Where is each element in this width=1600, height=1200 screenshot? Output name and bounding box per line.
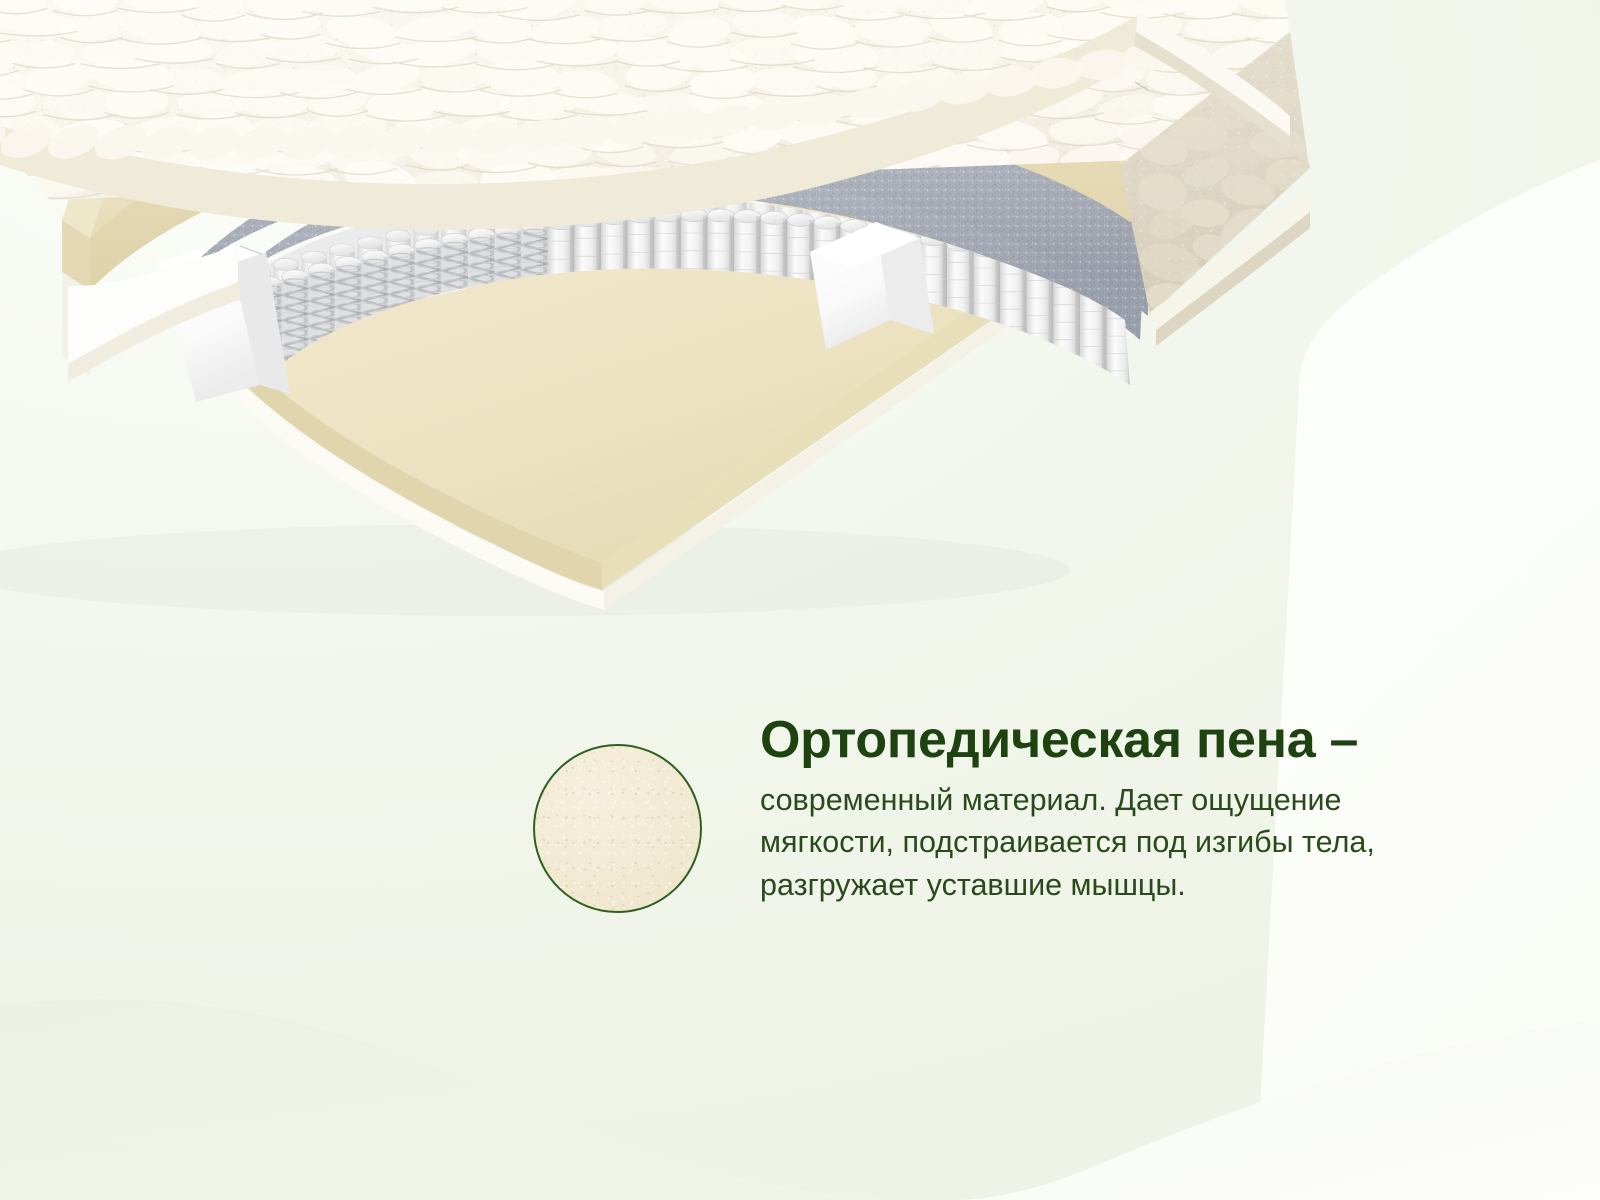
info-text-column: Ортопедическая пена – современный матери… xyxy=(760,712,1493,906)
info-description-line-2: мягкости, подстраивается под изгибы тела… xyxy=(760,821,1493,863)
mattress-cutaway-illustration xyxy=(0,0,1390,650)
info-description: современный материал. Дает ощущение мягк… xyxy=(760,779,1493,906)
info-description-line-1: современный материал. Дает ощущение xyxy=(760,779,1493,821)
info-block: Ортопедическая пена – современный матери… xyxy=(533,712,1493,913)
page-title: Ортопедическая пена – xyxy=(760,712,1493,768)
background-wave-bottom-left xyxy=(0,999,900,1200)
orthopedic-foam-color-swatch xyxy=(533,744,702,913)
info-description-line-3: разгружает уставшие мышцы. xyxy=(760,864,1493,906)
promo-banner: Ортопедическая пена – современный матери… xyxy=(0,0,1600,1200)
